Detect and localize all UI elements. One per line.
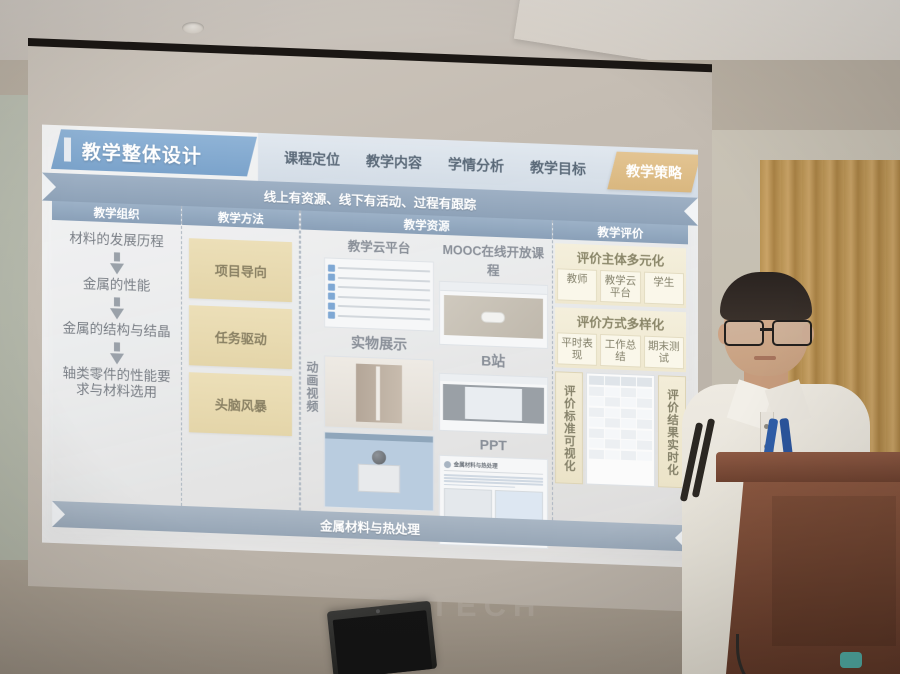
flow-arrow-icon xyxy=(114,342,120,351)
resource-label-mooc: MOOC在线开放课程 xyxy=(439,239,548,281)
glasses-lens xyxy=(724,320,764,346)
flow-arrow-icon xyxy=(114,252,120,261)
downlight-icon xyxy=(182,22,204,34)
animation-video-frame xyxy=(324,431,433,511)
screen-surface: 课程定位 教学内容 学情分析 教学目标 教学策略 教学整体设计 xyxy=(28,46,712,612)
flow-node: 轴类零件的性能要求与材料选用 xyxy=(56,365,177,401)
ppt-bullet-icon xyxy=(444,460,451,467)
evaluation-method-tags: 平时表现 工作总结 期末测试 xyxy=(557,332,684,369)
evaluation-bottom-row: 评价标准可视化 xyxy=(555,371,686,488)
flow-node: 金属的结构与结晶 xyxy=(63,320,171,340)
title-accent-bar xyxy=(64,137,71,161)
nav-item-student-analysis[interactable]: 学情分析 xyxy=(448,154,504,176)
slide-title: 教学整体设计 xyxy=(82,137,202,169)
download-icon xyxy=(328,274,335,281)
nav-item-teaching-goals[interactable]: 教学目标 xyxy=(530,157,586,179)
resources-left-column: 教学云平台 实物展示 xyxy=(324,234,433,544)
method-box: 项目导向 xyxy=(189,238,292,302)
evaluation-tag: 教学云平台 xyxy=(600,270,640,304)
podium xyxy=(716,452,900,674)
nav-item-course-position[interactable]: 课程定位 xyxy=(284,148,340,170)
list-item xyxy=(328,312,429,323)
table-row xyxy=(589,397,652,408)
webcam-icon xyxy=(376,609,380,613)
monitor-screen xyxy=(333,610,433,674)
slide-title-banner: 教学整体设计 xyxy=(51,129,257,176)
column-evaluation: 教学评价 评价主体多元化 教师 教学云平台 学生 评价方式多样化 xyxy=(553,220,688,525)
resource-label-animation-video: 动画视频 xyxy=(305,234,319,541)
bilibili-navbar xyxy=(440,374,547,385)
column-organization: 教学组织 材料的发展历程 金属的性能 金属的结构与结晶 xyxy=(52,201,182,506)
slide-footer-text: 金属材料与热处理 xyxy=(320,515,420,538)
column-resources: 教学资源 动画视频 教学云平台 xyxy=(300,210,552,520)
specimen-photo xyxy=(324,355,433,431)
method-box: 头脑风暴 xyxy=(189,372,292,436)
evaluation-subject-tags: 教师 教学云平台 学生 xyxy=(557,268,684,305)
evaluation-standard-text: 评价标准可视化 xyxy=(561,384,577,472)
ribbon-text: 线上有资源、线下有活动、过程有跟踪 xyxy=(264,186,477,213)
organization-flow: 材料的发展历程 金属的性能 金属的结构与结晶 轴类零件的性能要求与材料选用 xyxy=(56,226,177,401)
download-icon xyxy=(328,283,335,290)
desk-object xyxy=(840,652,862,668)
table-row xyxy=(589,439,652,450)
animation-object xyxy=(358,464,400,494)
bilibili-screenshot xyxy=(439,373,548,435)
ppt-doc-header: 金属材料与热处理 xyxy=(444,460,543,475)
table-row xyxy=(589,418,652,429)
evaluation-tag: 教师 xyxy=(557,268,597,302)
mooc-navbar xyxy=(440,282,547,295)
evaluation-subject-title: 评价主体多元化 xyxy=(557,246,684,270)
play-button-icon[interactable] xyxy=(481,311,505,323)
cloud-platform-screenshot xyxy=(324,257,433,331)
column-method: 教学方法 项目导向 任务驱动 头脑风暴 xyxy=(182,206,300,511)
column-evaluation-header: 教学评价 xyxy=(553,220,688,244)
presenter-hair xyxy=(720,272,812,320)
slide-body: 教学组织 材料的发展历程 金属的性能 金属的结构与结晶 xyxy=(42,201,698,526)
download-icon xyxy=(328,293,335,300)
glasses-lens xyxy=(772,320,812,346)
column-method-body: 项目导向 任务驱动 头脑风暴 xyxy=(182,225,299,450)
resource-label-ppt: PPT xyxy=(439,435,548,455)
table-row xyxy=(589,386,652,397)
bilibili-video-frame xyxy=(465,387,522,421)
mooc-screenshot xyxy=(439,281,548,349)
evaluation-subject-block: 评价主体多元化 教师 教学云平台 学生 xyxy=(555,243,686,308)
column-organization-body: 材料的发展历程 金属的性能 金属的结构与结晶 轴类零件的性能要求与材料选用 xyxy=(52,220,181,408)
flow-node: 金属的性能 xyxy=(83,276,151,295)
table-row xyxy=(589,428,652,439)
flow-arrow-icon xyxy=(110,263,124,275)
flow-node: 材料的发展历程 xyxy=(69,231,164,251)
animation-ball-icon xyxy=(372,450,386,465)
foreground-monitor xyxy=(327,601,438,674)
resources-right-column: MOOC在线开放课程 B站 xyxy=(439,239,548,549)
flow-arrow-icon xyxy=(114,297,120,306)
animation-toolbar xyxy=(325,432,432,442)
nav-item-teaching-strategy[interactable]: 教学策略 xyxy=(607,152,698,193)
download-icon xyxy=(328,302,335,309)
presenter-mouth xyxy=(754,356,776,360)
ppt-doc-title: 金属材料与热处理 xyxy=(454,460,498,470)
projected-slide: 课程定位 教学内容 学情分析 教学目标 教学策略 教学整体设计 xyxy=(42,125,698,568)
ppt-paragraph xyxy=(444,474,543,489)
podium-inset-panel xyxy=(772,496,896,646)
download-icon xyxy=(328,264,335,271)
evaluation-tag: 工作总结 xyxy=(600,334,640,368)
evaluation-standard-label: 评价标准可视化 xyxy=(555,371,583,484)
table-row xyxy=(589,376,652,387)
resource-label-cloud-platform: 教学云平台 xyxy=(324,234,433,257)
nav-item-teaching-strategy-label: 教学策略 xyxy=(626,161,682,183)
nav-item-teaching-content[interactable]: 教学内容 xyxy=(366,151,422,173)
podium-top-surface xyxy=(716,452,900,482)
bilibili-player xyxy=(443,384,544,424)
method-box: 任务驱动 xyxy=(189,305,292,369)
glasses-icon xyxy=(722,320,812,342)
table-row xyxy=(589,449,652,460)
lecture-hall-scene: TECH 课程定位 教学内容 学情分析 教学目标 教学策略 xyxy=(0,0,900,674)
flow-arrow-icon xyxy=(110,353,124,365)
metal-shaft-specimen xyxy=(356,364,402,424)
evaluation-tag: 平时表现 xyxy=(557,332,597,366)
flow-arrow-icon xyxy=(110,308,124,320)
resource-label-bilibili: B站 xyxy=(439,349,548,373)
table-row xyxy=(589,407,652,418)
ppt-figure xyxy=(444,488,492,520)
resource-label-physical-display: 实物展示 xyxy=(324,331,433,355)
projection-screen: 课程定位 教学内容 学情分析 教学目标 教学策略 教学整体设计 xyxy=(28,46,712,612)
ppt-figure xyxy=(495,490,543,522)
download-icon xyxy=(328,312,335,319)
resources-grid: 动画视频 教学云平台 xyxy=(301,230,551,554)
evaluation-method-title: 评价方式多样化 xyxy=(557,310,684,334)
evaluation-table-screenshot xyxy=(586,373,655,488)
evaluation-method-block: 评价方式多样化 平时表现 工作总结 期末测试 xyxy=(555,307,686,372)
mooc-video-thumbnail xyxy=(444,295,543,339)
